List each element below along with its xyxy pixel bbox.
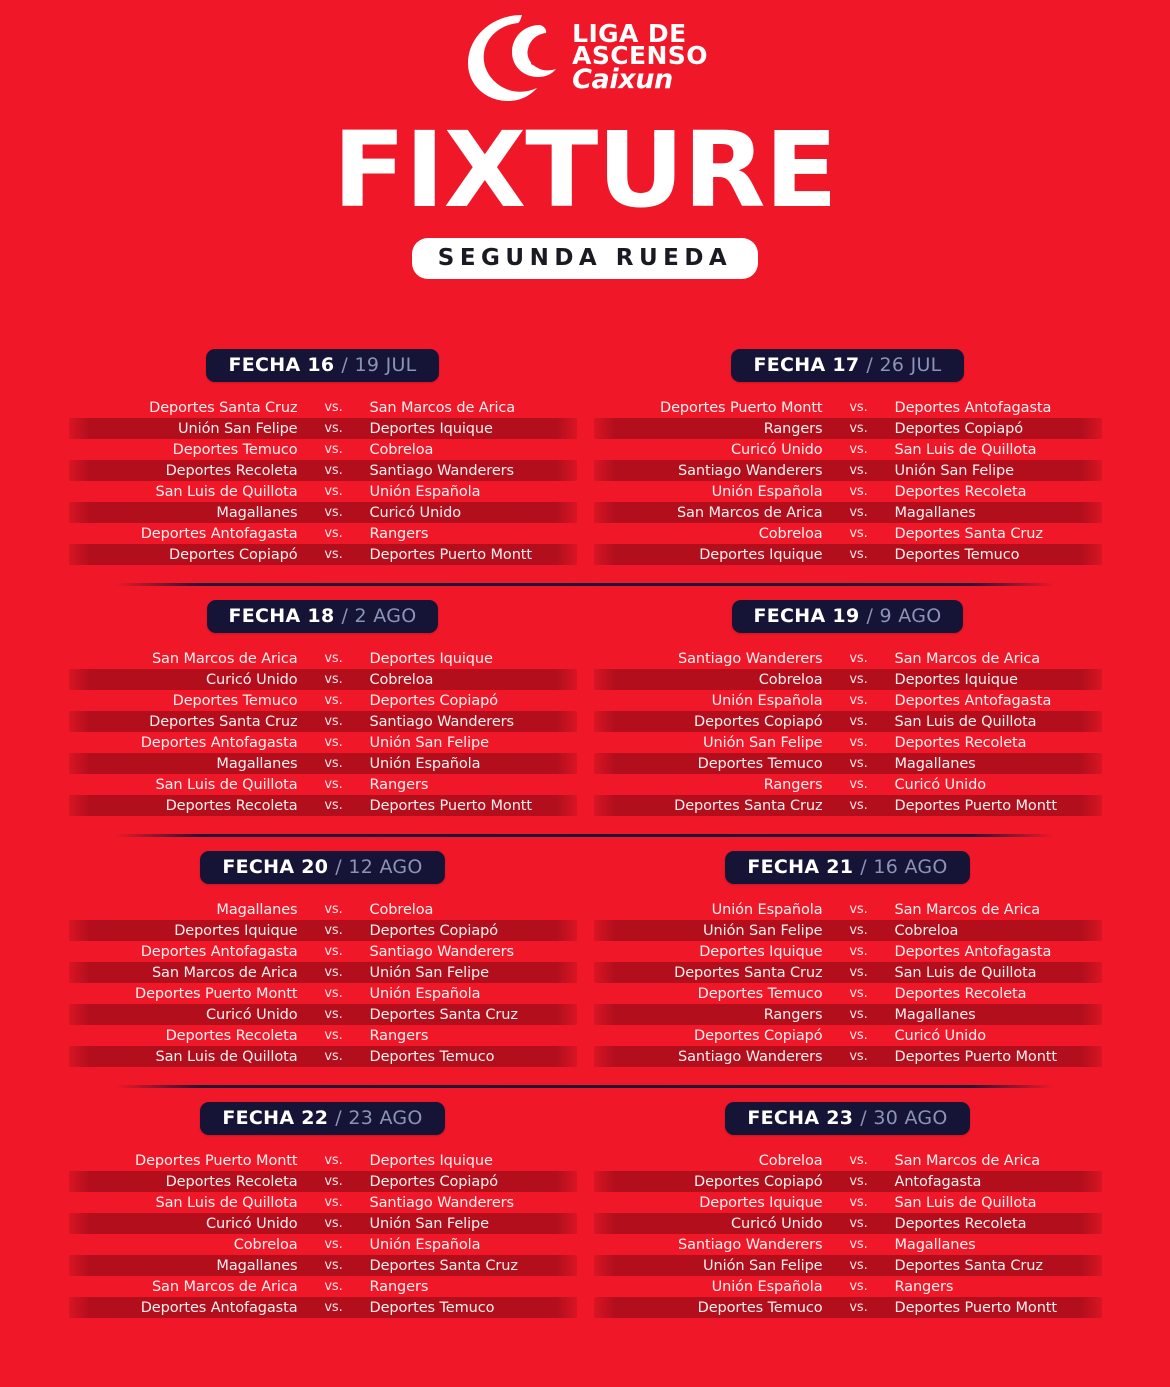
vs-label: vs. — [298, 923, 370, 938]
away-team: Deportes Antofagasta — [895, 400, 1102, 416]
match-row[interactable]: Deportes Iquiquevs.San Luis de Quillota — [594, 1192, 1102, 1213]
home-team: Deportes Antofagasta — [69, 944, 298, 960]
away-team: Unión Española — [370, 986, 577, 1002]
vs-label: vs. — [823, 547, 895, 562]
away-team: Deportes Antofagasta — [895, 693, 1102, 709]
match-list: Santiago Wanderersvs.San Marcos de Arica… — [594, 648, 1102, 816]
vs-label: vs. — [823, 1300, 895, 1315]
home-team: Deportes Recoleta — [69, 798, 298, 814]
vs-label: vs. — [298, 463, 370, 478]
away-team: San Luis de Quillota — [895, 714, 1102, 730]
match-list: Cobreloavs.San Marcos de AricaDeportes C… — [594, 1150, 1102, 1318]
vs-label: vs. — [823, 442, 895, 457]
page-header: LIGA DE ASCENSO Caixun FIXTURE SEGUNDA R… — [0, 0, 1170, 279]
away-team: Rangers — [370, 777, 577, 793]
away-team: Deportes Copiapó — [370, 693, 577, 709]
vs-label: vs. — [823, 1174, 895, 1189]
away-team: Curicó Unido — [895, 1028, 1102, 1044]
home-team: San Luis de Quillota — [69, 777, 298, 793]
home-team: Magallanes — [69, 756, 298, 772]
match-row[interactable]: Rangersvs.Curicó Unido — [594, 774, 1102, 795]
vs-label: vs. — [823, 1153, 895, 1168]
away-team: San Luis de Quillota — [895, 1195, 1102, 1211]
vs-label: vs. — [823, 463, 895, 478]
home-team: Deportes Iquique — [594, 547, 823, 563]
fixture-grid: FECHA 16/ 19 JULDeportes Santa Cruzvs.Sa… — [0, 349, 1170, 1318]
match-row[interactable]: Deportes Iquiquevs.Deportes Temuco — [594, 544, 1102, 565]
subtitle-badge: SEGUNDA RUEDA — [412, 238, 758, 279]
away-team: Deportes Temuco — [370, 1049, 577, 1065]
away-team: Deportes Recoleta — [895, 986, 1102, 1002]
vs-label: vs. — [823, 735, 895, 750]
vs-label: vs. — [298, 1195, 370, 1210]
round-block: FECHA 21/ 16 AGOUnión Españolavs.San Mar… — [594, 851, 1102, 1067]
round-block: FECHA 18/ 2 AGOSan Marcos de Aricavs.Dep… — [69, 600, 577, 816]
match-row[interactable]: Unión San Felipevs.Deportes Iquique — [69, 418, 577, 439]
match-row[interactable]: Deportes Antofagastavs.Deportes Temuco — [69, 1297, 577, 1318]
match-row[interactable]: Deportes Copiapóvs.Antofagasta — [594, 1171, 1102, 1192]
vs-label: vs. — [823, 944, 895, 959]
away-team: Deportes Copiapó — [370, 923, 577, 939]
away-team: Deportes Iquique — [895, 672, 1102, 688]
match-row[interactable]: Santiago Wanderersvs.San Marcos de Arica — [594, 648, 1102, 669]
vs-label: vs. — [823, 986, 895, 1001]
away-team: Rangers — [370, 526, 577, 542]
away-team: Deportes Puerto Montt — [370, 547, 577, 563]
home-team: Deportes Puerto Montt — [69, 1153, 298, 1169]
match-row[interactable]: Deportes Recoletavs.Santiago Wanderers — [69, 460, 577, 481]
away-team: Deportes Iquique — [370, 651, 577, 667]
vs-label: vs. — [823, 651, 895, 666]
home-team: Deportes Copiapó — [594, 1028, 823, 1044]
away-team: Deportes Recoleta — [895, 735, 1102, 751]
round-date: / 19 JUL — [341, 354, 416, 376]
away-team: Magallanes — [895, 1237, 1102, 1253]
match-row[interactable]: Unión Españolavs.San Marcos de Arica — [594, 899, 1102, 920]
match-row[interactable]: Unión San Felipevs.Cobreloa — [594, 920, 1102, 941]
home-team: Magallanes — [69, 902, 298, 918]
home-team: Deportes Temuco — [69, 442, 298, 458]
home-team: Magallanes — [69, 1258, 298, 1274]
match-row[interactable]: Unión San Felipevs.Deportes Santa Cruz — [594, 1255, 1102, 1276]
away-team: Deportes Recoleta — [895, 484, 1102, 500]
round-header-pill[interactable]: FECHA 17/ 26 JUL — [731, 349, 963, 382]
vs-label: vs. — [823, 923, 895, 938]
vs-label: vs. — [823, 902, 895, 917]
home-team: Deportes Antofagasta — [69, 1300, 298, 1316]
round-date: / 12 AGO — [335, 856, 422, 878]
match-row[interactable]: San Luis de Quillotavs.Deportes Temuco — [69, 1046, 577, 1067]
match-row[interactable]: Deportes Temucovs.Deportes Puerto Montt — [594, 1297, 1102, 1318]
section-divider — [115, 834, 1055, 837]
home-team: Deportes Santa Cruz — [594, 965, 823, 981]
away-team: Magallanes — [895, 756, 1102, 772]
vs-label: vs. — [823, 1279, 895, 1294]
away-team: Santiago Wanderers — [370, 1195, 577, 1211]
match-row[interactable]: Deportes Puerto Monttvs.Deportes Iquique — [69, 1150, 577, 1171]
vs-label: vs. — [298, 1258, 370, 1273]
away-team: San Luis de Quillota — [895, 442, 1102, 458]
away-team: Deportes Santa Cruz — [370, 1258, 577, 1274]
round-label: FECHA 22 — [222, 1107, 328, 1129]
match-row[interactable]: Deportes Puerto Monttvs.Deportes Antofag… — [594, 397, 1102, 418]
match-list: Magallanesvs.CobreloaDeportes Iquiquevs.… — [69, 899, 577, 1067]
home-team: Deportes Recoleta — [69, 1174, 298, 1190]
home-team: Rangers — [594, 777, 823, 793]
home-team: San Marcos de Arica — [69, 965, 298, 981]
away-team: Deportes Santa Cruz — [895, 526, 1102, 542]
vs-label: vs. — [823, 1007, 895, 1022]
match-row[interactable]: Cobreloavs.San Marcos de Arica — [594, 1150, 1102, 1171]
away-team: Unión Española — [370, 756, 577, 772]
home-team: Cobreloa — [594, 1153, 823, 1169]
away-team: Santiago Wanderers — [370, 463, 577, 479]
match-row[interactable]: Unión Españolavs.Deportes Antofagasta — [594, 690, 1102, 711]
match-row[interactable]: Deportes Temucovs.Deportes Recoleta — [594, 983, 1102, 1004]
vs-label: vs. — [298, 547, 370, 562]
match-row[interactable]: Santiago Wanderersvs.Magallanes — [594, 1234, 1102, 1255]
vs-label: vs. — [298, 1279, 370, 1294]
page-title: FIXTURE — [333, 118, 837, 222]
vs-label: vs. — [823, 672, 895, 687]
home-team: San Luis de Quillota — [69, 1049, 298, 1065]
home-team: Curicó Unido — [594, 442, 823, 458]
home-team: Curicó Unido — [69, 1007, 298, 1023]
home-team: Unión Española — [594, 484, 823, 500]
match-row[interactable]: Curicó Unidovs.Unión San Felipe — [69, 1213, 577, 1234]
round-row: FECHA 16/ 19 JULDeportes Santa Cruzvs.Sa… — [0, 349, 1170, 565]
match-row[interactable]: Magallanesvs.Unión Española — [69, 753, 577, 774]
home-team: Santiago Wanderers — [594, 651, 823, 667]
home-team: Unión San Felipe — [594, 923, 823, 939]
home-team: Cobreloa — [594, 672, 823, 688]
vs-label: vs. — [298, 777, 370, 792]
home-team: Unión San Felipe — [594, 1258, 823, 1274]
round-block: FECHA 23/ 30 AGOCobreloavs.San Marcos de… — [594, 1102, 1102, 1318]
home-team: San Marcos de Arica — [69, 651, 298, 667]
home-team: Santiago Wanderers — [594, 1237, 823, 1253]
round-header-pill[interactable]: FECHA 21/ 16 AGO — [725, 851, 969, 884]
home-team: Rangers — [594, 1007, 823, 1023]
round-date: / 2 AGO — [341, 605, 416, 627]
match-row[interactable]: Deportes Recoletavs.Rangers — [69, 1025, 577, 1046]
away-team: Unión San Felipe — [895, 463, 1102, 479]
match-row[interactable]: San Marcos de Aricavs.Unión San Felipe — [69, 962, 577, 983]
round-block: FECHA 19/ 9 AGOSantiago Wanderersvs.San … — [594, 600, 1102, 816]
round-block: FECHA 16/ 19 JULDeportes Santa Cruzvs.Sa… — [69, 349, 577, 565]
away-team: Santiago Wanderers — [370, 944, 577, 960]
vs-label: vs. — [823, 1049, 895, 1064]
match-row[interactable]: Unión Españolavs.Rangers — [594, 1276, 1102, 1297]
home-team: San Luis de Quillota — [69, 484, 298, 500]
home-team: Deportes Copiapó — [594, 1174, 823, 1190]
home-team: Deportes Puerto Montt — [594, 400, 823, 416]
away-team: San Marcos de Arica — [895, 1153, 1102, 1169]
match-row[interactable]: Deportes Recoletavs.Deportes Puerto Mont… — [69, 795, 577, 816]
away-team: Antofagasta — [895, 1174, 1102, 1190]
vs-label: vs. — [298, 421, 370, 436]
match-row[interactable]: Unión San Felipevs.Deportes Recoleta — [594, 732, 1102, 753]
round-block: FECHA 22/ 23 AGODeportes Puerto Monttvs.… — [69, 1102, 577, 1318]
round-label: FECHA 21 — [747, 856, 853, 878]
away-team: Deportes Temuco — [895, 547, 1102, 563]
away-team: Deportes Puerto Montt — [895, 1300, 1102, 1316]
round-header-pill[interactable]: FECHA 22/ 23 AGO — [200, 1102, 444, 1135]
match-row[interactable]: Deportes Santa Cruzvs.Santiago Wanderers — [69, 711, 577, 732]
match-row[interactable]: Cobreloavs.Unión Española — [69, 1234, 577, 1255]
match-row[interactable]: Santiago Wanderersvs.Deportes Puerto Mon… — [594, 1046, 1102, 1067]
away-team: Rangers — [370, 1028, 577, 1044]
match-list: Deportes Puerto Monttvs.Deportes Antofag… — [594, 397, 1102, 565]
round-header-pill[interactable]: FECHA 20/ 12 AGO — [200, 851, 444, 884]
match-row[interactable]: Deportes Puerto Monttvs.Unión Española — [69, 983, 577, 1004]
away-team: Deportes Iquique — [370, 1153, 577, 1169]
match-list: Unión Españolavs.San Marcos de AricaUnió… — [594, 899, 1102, 1067]
away-team: Rangers — [370, 1279, 577, 1295]
round-label: FECHA 16 — [228, 354, 334, 376]
away-team: Curicó Unido — [895, 777, 1102, 793]
vs-label: vs. — [823, 777, 895, 792]
vs-label: vs. — [298, 756, 370, 771]
home-team: Deportes Recoleta — [69, 463, 298, 479]
match-row[interactable]: Deportes Temucovs.Magallanes — [594, 753, 1102, 774]
away-team: Unión San Felipe — [370, 965, 577, 981]
home-team: Deportes Iquique — [594, 1195, 823, 1211]
match-row[interactable]: Deportes Copiapóvs.San Luis de Quillota — [594, 711, 1102, 732]
vs-label: vs. — [298, 944, 370, 959]
home-team: Cobreloa — [69, 1237, 298, 1253]
vs-label: vs. — [823, 1258, 895, 1273]
away-team: Unión San Felipe — [370, 735, 577, 751]
away-team: Santiago Wanderers — [370, 714, 577, 730]
match-row[interactable]: Curicó Unidovs.Deportes Santa Cruz — [69, 1004, 577, 1025]
round-row: FECHA 20/ 12 AGOMagallanesvs.CobreloaDep… — [0, 851, 1170, 1067]
match-row[interactable]: Magallanesvs.Cobreloa — [69, 899, 577, 920]
home-team: Curicó Unido — [594, 1216, 823, 1232]
home-team: Deportes Copiapó — [69, 547, 298, 563]
match-row[interactable]: Cobreloavs.Deportes Santa Cruz — [594, 523, 1102, 544]
vs-label: vs. — [298, 902, 370, 917]
away-team: Unión San Felipe — [370, 1216, 577, 1232]
vs-label: vs. — [298, 693, 370, 708]
vs-label: vs. — [823, 1195, 895, 1210]
round-block: FECHA 20/ 12 AGOMagallanesvs.CobreloaDep… — [69, 851, 577, 1067]
section-divider — [115, 583, 1055, 586]
match-row[interactable]: Curicó Unidovs.San Luis de Quillota — [594, 439, 1102, 460]
vs-label: vs. — [823, 798, 895, 813]
match-row[interactable]: Deportes Antofagastavs.Rangers — [69, 523, 577, 544]
match-list: Deportes Santa Cruzvs.San Marcos de Aric… — [69, 397, 577, 565]
away-team: Deportes Iquique — [370, 421, 577, 437]
vs-label: vs. — [823, 693, 895, 708]
match-row[interactable]: Deportes Santa Cruzvs.Deportes Puerto Mo… — [594, 795, 1102, 816]
vs-label: vs. — [298, 965, 370, 980]
match-row[interactable]: Rangersvs.Magallanes — [594, 1004, 1102, 1025]
match-row[interactable]: Deportes Antofagastavs.Unión San Felipe — [69, 732, 577, 753]
match-row[interactable]: Magallanesvs.Curicó Unido — [69, 502, 577, 523]
home-team: Unión Española — [594, 1279, 823, 1295]
match-row[interactable]: Deportes Santa Cruzvs.San Marcos de Aric… — [69, 397, 577, 418]
match-row[interactable]: San Marcos de Aricavs.Magallanes — [594, 502, 1102, 523]
vs-label: vs. — [298, 484, 370, 499]
round-row: FECHA 22/ 23 AGODeportes Puerto Monttvs.… — [0, 1102, 1170, 1318]
vs-label: vs. — [823, 484, 895, 499]
away-team: Deportes Puerto Montt — [370, 798, 577, 814]
home-team: Deportes Puerto Montt — [69, 986, 298, 1002]
match-row[interactable]: San Marcos de Aricavs.Rangers — [69, 1276, 577, 1297]
vs-label: vs. — [298, 672, 370, 687]
league-logo: LIGA DE ASCENSO Caixun — [462, 12, 708, 104]
match-row[interactable]: Deportes Iquiquevs.Deportes Copiapó — [69, 920, 577, 941]
home-team: Cobreloa — [594, 526, 823, 542]
match-row[interactable]: San Luis de Quillotavs.Unión Española — [69, 481, 577, 502]
home-team: Unión Española — [594, 902, 823, 918]
vs-label: vs. — [298, 400, 370, 415]
vs-label: vs. — [298, 1300, 370, 1315]
home-team: Unión San Felipe — [69, 421, 298, 437]
away-team: San Marcos de Arica — [895, 651, 1102, 667]
vs-label: vs. — [823, 526, 895, 541]
round-header-pill[interactable]: FECHA 19/ 9 AGO — [732, 600, 964, 633]
home-team: Deportes Antofagasta — [69, 735, 298, 751]
away-team: Curicó Unido — [370, 505, 577, 521]
vs-label: vs. — [298, 1007, 370, 1022]
home-team: Deportes Antofagasta — [69, 526, 298, 542]
logo-sponsor: Caixun — [572, 68, 708, 92]
home-team: Deportes Recoleta — [69, 1028, 298, 1044]
away-team: Magallanes — [895, 1007, 1102, 1023]
match-row[interactable]: Deportes Temucovs.Cobreloa — [69, 439, 577, 460]
vs-label: vs. — [823, 1216, 895, 1231]
home-team: Deportes Copiapó — [594, 714, 823, 730]
home-team: Curicó Unido — [69, 1216, 298, 1232]
vs-label: vs. — [298, 1174, 370, 1189]
match-row[interactable]: Deportes Santa Cruzvs.San Luis de Quillo… — [594, 962, 1102, 983]
vs-label: vs. — [298, 1028, 370, 1043]
match-row[interactable]: Curicó Unidovs.Deportes Recoleta — [594, 1213, 1102, 1234]
round-date: / 23 AGO — [335, 1107, 422, 1129]
round-row: FECHA 18/ 2 AGOSan Marcos de Aricavs.Dep… — [0, 600, 1170, 816]
round-label: FECHA 19 — [754, 605, 860, 627]
home-team: Deportes Temuco — [594, 756, 823, 772]
round-label: FECHA 18 — [229, 605, 335, 627]
away-team: Cobreloa — [370, 672, 577, 688]
home-team: Santiago Wanderers — [594, 463, 823, 479]
match-row[interactable]: Curicó Unidovs.Cobreloa — [69, 669, 577, 690]
home-team: San Marcos de Arica — [594, 505, 823, 521]
home-team: Santiago Wanderers — [594, 1049, 823, 1065]
vs-label: vs. — [298, 1153, 370, 1168]
home-team: Deportes Temuco — [594, 986, 823, 1002]
match-list: Deportes Puerto Monttvs.Deportes Iquique… — [69, 1150, 577, 1318]
round-date: / 9 AGO — [866, 605, 941, 627]
match-list: San Marcos de Aricavs.Deportes IquiqueCu… — [69, 648, 577, 816]
match-row[interactable]: Rangersvs.Deportes Copiapó — [594, 418, 1102, 439]
match-row[interactable]: Santiago Wanderersvs.Unión San Felipe — [594, 460, 1102, 481]
away-team: Deportes Copiapó — [370, 1174, 577, 1190]
round-block: FECHA 17/ 26 JULDeportes Puerto Monttvs.… — [594, 349, 1102, 565]
vs-label: vs. — [298, 1237, 370, 1252]
match-row[interactable]: Deportes Copiapóvs.Deportes Puerto Montt — [69, 544, 577, 565]
home-team: Curicó Unido — [69, 672, 298, 688]
round-label: FECHA 23 — [747, 1107, 853, 1129]
vs-label: vs. — [298, 651, 370, 666]
away-team: Deportes Puerto Montt — [895, 1049, 1102, 1065]
match-row[interactable]: Deportes Temucovs.Deportes Copiapó — [69, 690, 577, 711]
vs-label: vs. — [823, 1028, 895, 1043]
home-team: Deportes Iquique — [69, 923, 298, 939]
home-team: Deportes Temuco — [594, 1300, 823, 1316]
vs-label: vs. — [298, 442, 370, 457]
match-row[interactable]: San Luis de Quillotavs.Santiago Wanderer… — [69, 1192, 577, 1213]
match-row[interactable]: Magallanesvs.Deportes Santa Cruz — [69, 1255, 577, 1276]
match-row[interactable]: Deportes Recoletavs.Deportes Copiapó — [69, 1171, 577, 1192]
away-team: Cobreloa — [370, 902, 577, 918]
away-team: Cobreloa — [895, 923, 1102, 939]
vs-label: vs. — [298, 1049, 370, 1064]
home-team: Deportes Santa Cruz — [69, 400, 298, 416]
match-row[interactable]: Deportes Iquiquevs.Deportes Antofagasta — [594, 941, 1102, 962]
section-divider — [115, 1085, 1055, 1088]
round-label: FECHA 20 — [222, 856, 328, 878]
match-row[interactable]: San Luis de Quillotavs.Rangers — [69, 774, 577, 795]
vs-label: vs. — [823, 756, 895, 771]
vs-label: vs. — [298, 986, 370, 1001]
vs-label: vs. — [823, 421, 895, 436]
vs-label: vs. — [298, 526, 370, 541]
condor-crescent-logo-icon — [462, 13, 566, 103]
away-team: Deportes Recoleta — [895, 1216, 1102, 1232]
match-row[interactable]: Deportes Copiapóvs.Curicó Unido — [594, 1025, 1102, 1046]
home-team: Rangers — [594, 421, 823, 437]
vs-label: vs. — [298, 798, 370, 813]
away-team: San Marcos de Arica — [370, 400, 577, 416]
away-team: Cobreloa — [370, 442, 577, 458]
vs-label: vs. — [298, 1216, 370, 1231]
match-row[interactable]: Unión Españolavs.Deportes Recoleta — [594, 481, 1102, 502]
away-team: Deportes Santa Cruz — [895, 1258, 1102, 1274]
vs-label: vs. — [823, 400, 895, 415]
round-date: / 26 JUL — [866, 354, 941, 376]
vs-label: vs. — [823, 965, 895, 980]
home-team: Magallanes — [69, 505, 298, 521]
away-team: San Marcos de Arica — [895, 902, 1102, 918]
away-team: Magallanes — [895, 505, 1102, 521]
round-label: FECHA 17 — [753, 354, 859, 376]
away-team: Rangers — [895, 1279, 1102, 1295]
round-header-pill[interactable]: FECHA 16/ 19 JUL — [206, 349, 438, 382]
away-team: San Luis de Quillota — [895, 965, 1102, 981]
home-team: San Marcos de Arica — [69, 1279, 298, 1295]
home-team: San Luis de Quillota — [69, 1195, 298, 1211]
match-row[interactable]: Cobreloavs.Deportes Iquique — [594, 669, 1102, 690]
match-row[interactable]: San Marcos de Aricavs.Deportes Iquique — [69, 648, 577, 669]
round-header-pill[interactable]: FECHA 18/ 2 AGO — [207, 600, 439, 633]
match-row[interactable]: Deportes Antofagastavs.Santiago Wanderer… — [69, 941, 577, 962]
round-date: / 16 AGO — [860, 856, 947, 878]
away-team: Deportes Temuco — [370, 1300, 577, 1316]
home-team: Unión Española — [594, 693, 823, 709]
vs-label: vs. — [298, 505, 370, 520]
round-header-pill[interactable]: FECHA 23/ 30 AGO — [725, 1102, 969, 1135]
vs-label: vs. — [298, 735, 370, 750]
away-team: Deportes Puerto Montt — [895, 798, 1102, 814]
home-team: Unión San Felipe — [594, 735, 823, 751]
home-team: Deportes Santa Cruz — [69, 714, 298, 730]
vs-label: vs. — [823, 505, 895, 520]
away-team: Unión Española — [370, 484, 577, 500]
home-team: Deportes Santa Cruz — [594, 798, 823, 814]
